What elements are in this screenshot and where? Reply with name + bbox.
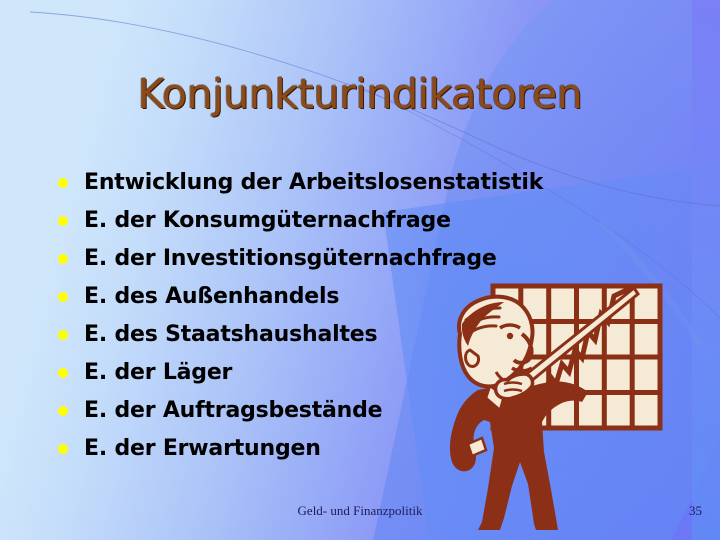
bullet-dot-icon xyxy=(58,178,68,188)
list-item-label: E. der Läger xyxy=(84,360,232,385)
bullet-dot-icon xyxy=(58,292,68,302)
list-item: Entwicklung der Arbeitslosenstatistik xyxy=(58,163,658,201)
bullet-dot-icon xyxy=(58,254,68,264)
list-item: E. der Konsumgüternachfrage xyxy=(58,201,658,239)
bullet-dot-icon xyxy=(58,330,68,340)
bullet-dot-icon xyxy=(58,216,68,226)
businessman-chart-illustration-icon xyxy=(438,272,690,532)
list-item-label: Entwicklung der Arbeitslosenstatistik xyxy=(84,170,543,195)
footer-label: Geld- und Finanzpolitik xyxy=(0,503,720,519)
list-item-label: E. der Investitionsgüternachfrage xyxy=(84,246,497,271)
list-item-label: E. der Erwartungen xyxy=(84,436,321,461)
list-item-label: E. der Auftragsbestände xyxy=(84,398,382,423)
list-item-label: E. des Staatshaushaltes xyxy=(84,322,377,347)
list-item-label: E. der Konsumgüternachfrage xyxy=(84,208,451,233)
bullet-dot-icon xyxy=(58,444,68,454)
slide-canvas: Konjunkturindikatoren Entwicklung der Ar… xyxy=(0,0,720,540)
slide-title: Konjunkturindikatoren xyxy=(0,70,720,118)
list-item-label: E. des Außenhandels xyxy=(84,284,339,309)
bullet-dot-icon xyxy=(58,368,68,378)
page-number: 35 xyxy=(689,503,702,519)
bullet-dot-icon xyxy=(58,406,68,416)
